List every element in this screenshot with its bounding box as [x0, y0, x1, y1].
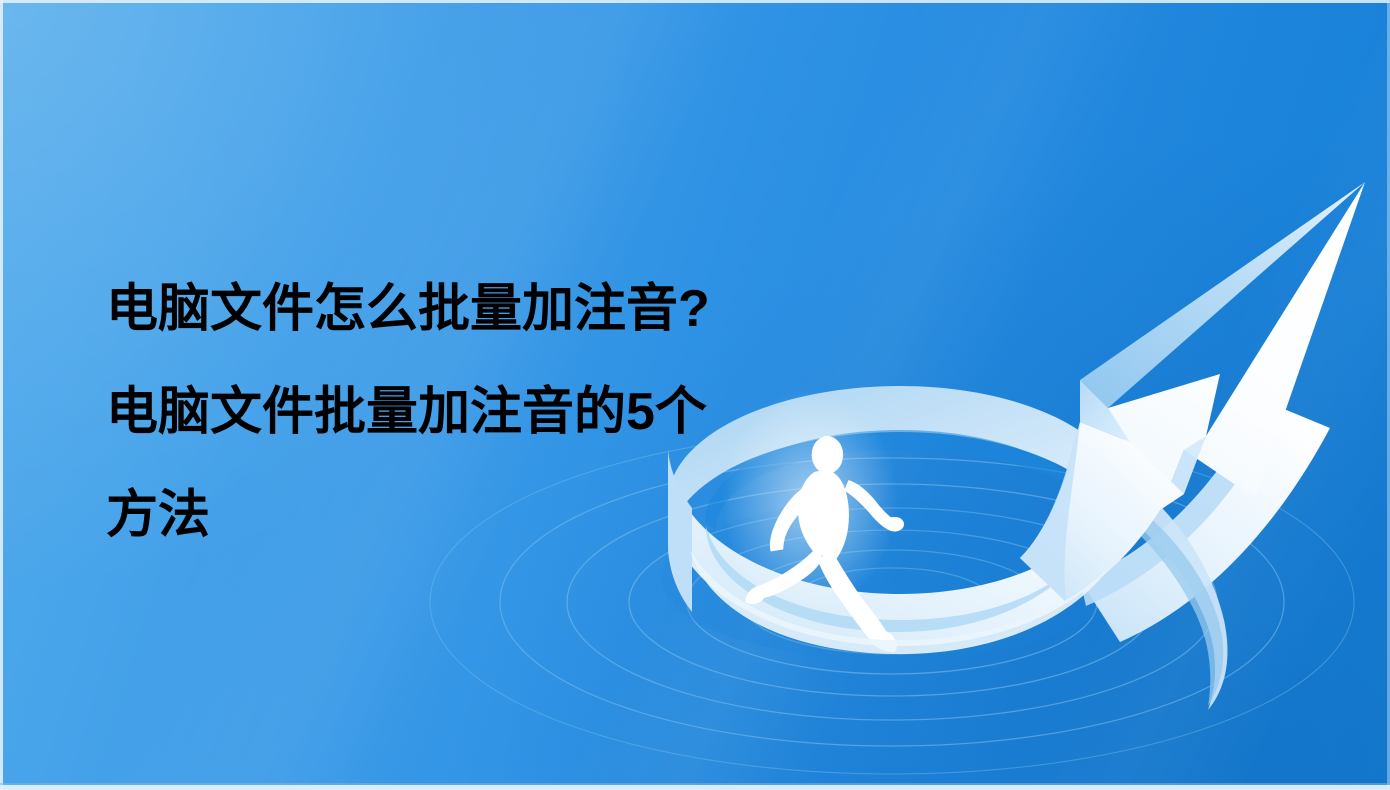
title-line-2: 电脑文件批量加注音的5个 — [106, 361, 866, 464]
page-title: 电脑文件怎么批量加注音? 电脑文件批量加注音的5个 方法 — [106, 258, 866, 567]
title-line-3: 方法 — [106, 464, 866, 567]
slide-canvas: 电脑文件怎么批量加注音? 电脑文件批量加注音的5个 方法 — [0, 0, 1390, 790]
title-line-1: 电脑文件怎么批量加注音? — [106, 258, 866, 361]
